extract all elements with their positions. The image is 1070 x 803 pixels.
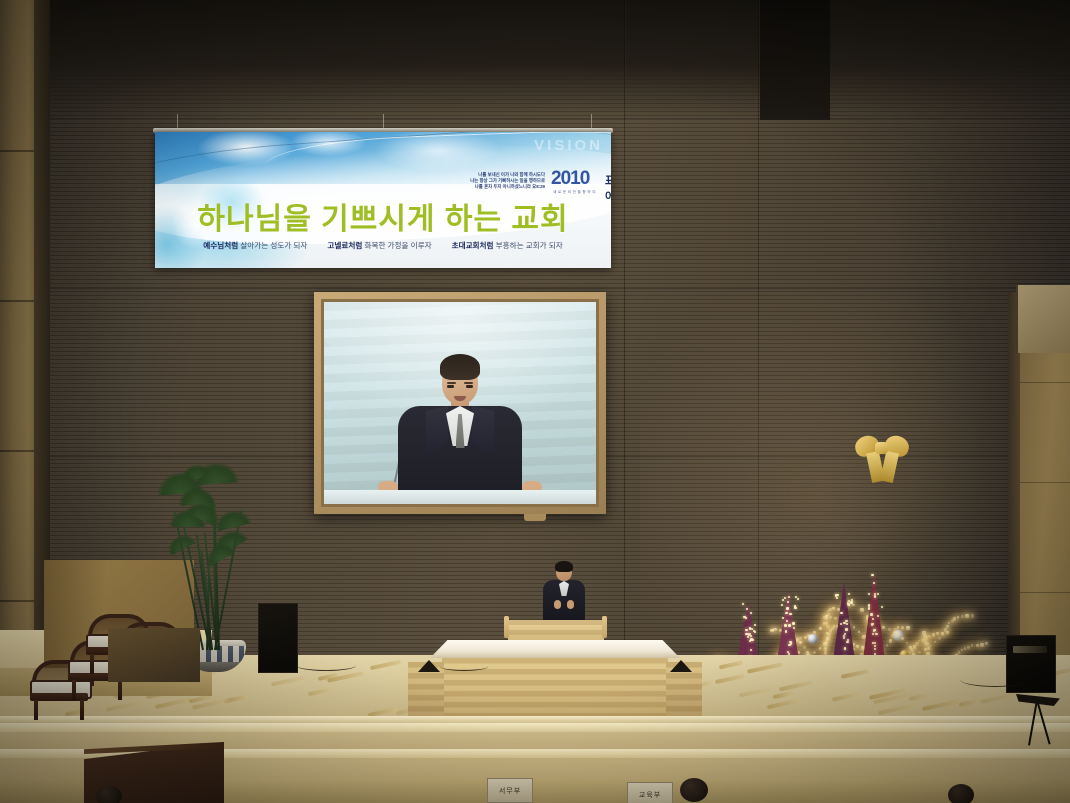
cone-tree-light [745,633,747,635]
branch-light-bead [888,628,890,630]
department-sign-label: 교육부 [639,790,661,800]
branch-light-bead [957,616,960,619]
sanctuary-scene: VISION 나를 보내신 이가 나와 함께 하시도다 나는 항상 그가 기뻐하… [0,0,1070,803]
branch-light-bead [923,639,927,643]
stage-step-1-tread [0,723,1070,732]
branch-light-bead [813,651,816,654]
branch-light-bead [828,633,831,636]
branch-light-bead [858,631,860,633]
branch-light-bead [889,639,892,642]
branch-light-bead [985,642,987,645]
branch-light-bead [803,646,806,649]
cone-tree-light [793,627,795,629]
branch-light-bead [886,644,888,647]
floor-cable [960,672,1030,687]
branch-light-bead [936,632,939,635]
banner-main-slogan: 하나님을 기쁘시게 하는 교회 [155,194,611,238]
preacher [540,562,588,628]
cone-tree-light [788,644,790,646]
banner-year-number: 2010 [551,168,589,190]
stage-floor-slat [878,703,918,715]
floor-cable [440,662,488,671]
cone-tree-light [868,607,870,609]
cone-tree-light [871,574,873,576]
cone-tree-light [850,601,852,603]
cone-tree-light [784,624,786,626]
branch-light-bead [897,626,899,629]
cone-tree-light [788,596,790,598]
cone-tree-light [750,638,752,640]
department-sign: 서무부 [487,778,533,803]
branch-light-bead [825,622,828,625]
branch-light-bead [961,649,963,652]
congregant-head [948,784,974,803]
branch-light-bead [799,641,802,644]
congregant-head [680,778,708,802]
branch-light-bead [856,645,859,648]
branch-light-bead [906,642,909,645]
branch-light-bead [964,647,966,650]
cone-tree-light [745,629,747,631]
cone-tree-light [868,604,870,606]
branch-light-bead [824,647,828,651]
cone-tree-light [847,639,849,641]
stage-floor-slat [739,686,773,697]
cone-tree-light [877,615,879,617]
cone-tree-light [792,622,794,624]
branch-light-bead [906,626,910,630]
branch-light-bead [961,615,964,618]
upper-wall-shadow [0,0,1070,120]
stage-floor-slat [959,699,978,707]
wall-seam [0,118,1070,120]
branch-light-bead [965,614,968,618]
branch-light-bead [932,633,935,636]
stage-floor-slat [747,662,783,673]
stage-floor-slat [773,691,794,699]
vision-banner: VISION 나를 보내신 이가 나와 함께 하시도다 나는 항상 그가 기뻐하… [155,128,611,270]
decorative-cone-tree [737,602,759,660]
decorative-cone-tree [833,582,855,660]
banner-watermark: VISION [534,137,603,154]
branch-light-bead [823,622,825,624]
branch-light-bead [911,650,914,653]
branch-light-bead [980,643,984,647]
projection-screen [314,292,606,514]
cone-tree-light [840,623,842,625]
branch-light-bead [946,625,949,628]
branch-light-bead [971,644,973,647]
cone-tree-light [743,616,745,618]
branch-light-bead [941,632,944,635]
branch-light-bead [918,651,920,654]
projected-video-image [324,302,596,504]
gold-ribbon-bow [855,436,909,470]
branch-light-bead [923,634,926,638]
branch-light-bead [953,617,956,620]
cone-tree-light [840,612,842,614]
cone-tree-light [873,630,875,632]
silver-ornament-ball [808,634,817,643]
department-sign-label: 서무부 [499,786,521,796]
stage-floor-slat [308,688,331,697]
screen-mount-bracket [524,514,546,521]
decorative-cone-tree [863,572,885,660]
cone-tree-light [877,593,879,595]
stage-floor-slat [922,699,962,711]
branch-light-bead [971,614,974,618]
stage-floor-slat [106,700,143,712]
branch-light-bead [901,637,904,641]
stage-floor-slat [766,699,798,710]
stage-floor-slat [841,669,869,679]
branch-light-bead [929,645,931,647]
branch-light-bead [799,637,802,640]
cone-tree-light [749,627,751,629]
cone-tree-light [844,647,846,649]
upper-right-light-panel [1016,285,1070,353]
stage-floor-slat [715,674,745,684]
christmas-light-branches [655,258,1015,678]
stage-floor-slat [832,692,859,702]
stage-floor-slat [779,680,813,691]
cone-tree-light [843,622,845,624]
branch-light-bead [823,642,826,646]
stage-floor-slat [370,660,401,670]
branch-light-bead [922,631,925,635]
branch-light-bead [895,632,897,635]
branch-light-bead [770,629,774,633]
branch-light-bead [924,648,927,651]
branch-light-bead [958,651,960,654]
cone-tree-light [870,613,872,615]
cone-tree-light [871,624,873,626]
side-wood-panel [108,628,200,682]
decorative-cone-tree [777,592,799,660]
banner-sub-slogans: 예수님처럼 살아가는 성도가 되자 고넬료처럼 화목한 가정을 이루자 초대교회… [155,240,611,251]
branch-light-bead [976,644,980,648]
congregant-head [96,786,122,803]
floor-monitor-speaker [258,603,298,673]
cone-tree-light [789,613,791,615]
branch-light-bead [915,642,918,646]
branch-light-bead [823,616,826,619]
branch-light-bead [934,641,936,644]
branch-light-bead [948,622,950,625]
cone-tree-light [784,597,786,599]
branch-light-bead [944,628,947,631]
branch-light-bead [938,637,941,641]
floor-cable [296,660,356,671]
stage-floor-slat [719,661,743,670]
branch-light-bead [928,635,931,639]
cone-tree-light [872,633,874,635]
cone-tree-light [785,630,787,632]
branch-light-bead [819,647,821,650]
branch-light-bead [829,616,832,619]
wall-seam [624,0,626,660]
branch-light-bead [826,638,829,641]
stage-floor-slat [271,675,305,686]
communion-table-top [430,640,680,658]
cone-tree-light [835,594,837,596]
branch-light-bead [927,647,930,650]
banner-verse: 나를 보내신 이가 나와 함께 하시도다 나는 항상 그가 기뻐하시는 일을 행… [405,172,545,191]
department-sign: 교육부 [627,782,673,803]
amp-brand-badge [1013,646,1047,653]
branch-light-bead [806,651,809,655]
cone-tree-light [845,628,847,630]
branch-light-bead [819,627,822,630]
branch-light-bead [909,646,912,649]
cone-tree-light [846,641,848,643]
branch-light-bead [901,626,904,630]
stage-floor-slat [155,697,194,709]
cone-tree-light [875,633,877,635]
cone-tree-light [788,624,790,626]
music-stand [1008,700,1066,762]
branch-light-bead [967,646,970,649]
ceiling-slab [760,0,830,120]
cone-tree-light [787,601,789,603]
cone-tree-light [786,607,788,609]
